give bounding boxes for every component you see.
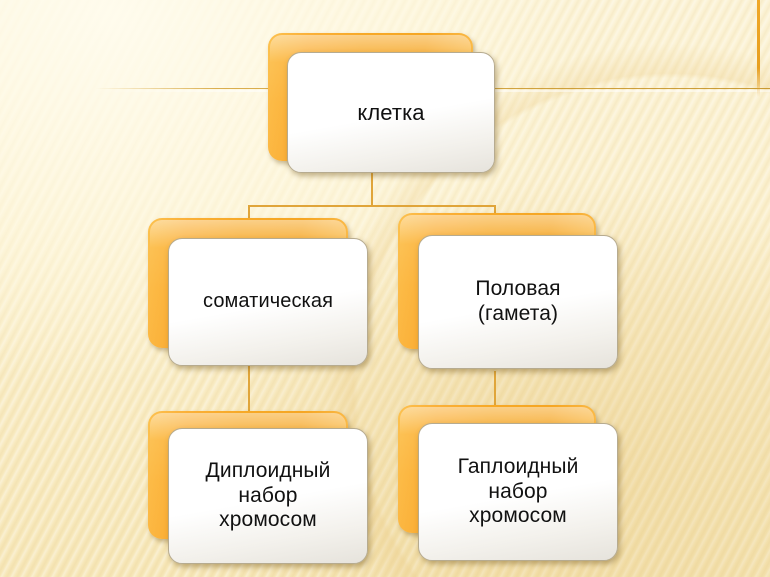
node-haploid-card[interactable]: Гаплоидный набор хромосом xyxy=(418,423,618,561)
node-haploid-label: Гаплоидный набор хромосом xyxy=(458,455,579,529)
connector-somatic-to-diploid xyxy=(248,366,250,413)
node-sexual-card[interactable]: Половая (гамета) xyxy=(418,235,618,369)
node-diploid-label: Диплоидный набор хромосом xyxy=(206,459,331,533)
node-cell-label: клетка xyxy=(357,100,424,126)
connector-sexual-to-haploid xyxy=(494,371,496,407)
slide-canvas: клетка соматическая Половая (гамета) Дип… xyxy=(0,0,770,577)
connector-split-bar xyxy=(248,205,496,207)
node-cell-card[interactable]: клетка xyxy=(287,52,495,173)
node-somatic-label: соматическая xyxy=(203,290,333,314)
node-sexual-label: Половая (гамета) xyxy=(475,277,560,327)
connector-cell-down xyxy=(371,172,373,207)
node-somatic-card[interactable]: соматическая xyxy=(168,238,368,366)
node-diploid-card[interactable]: Диплоидный набор хромосом xyxy=(168,428,368,564)
background-vertical-accent-bar xyxy=(757,0,760,97)
